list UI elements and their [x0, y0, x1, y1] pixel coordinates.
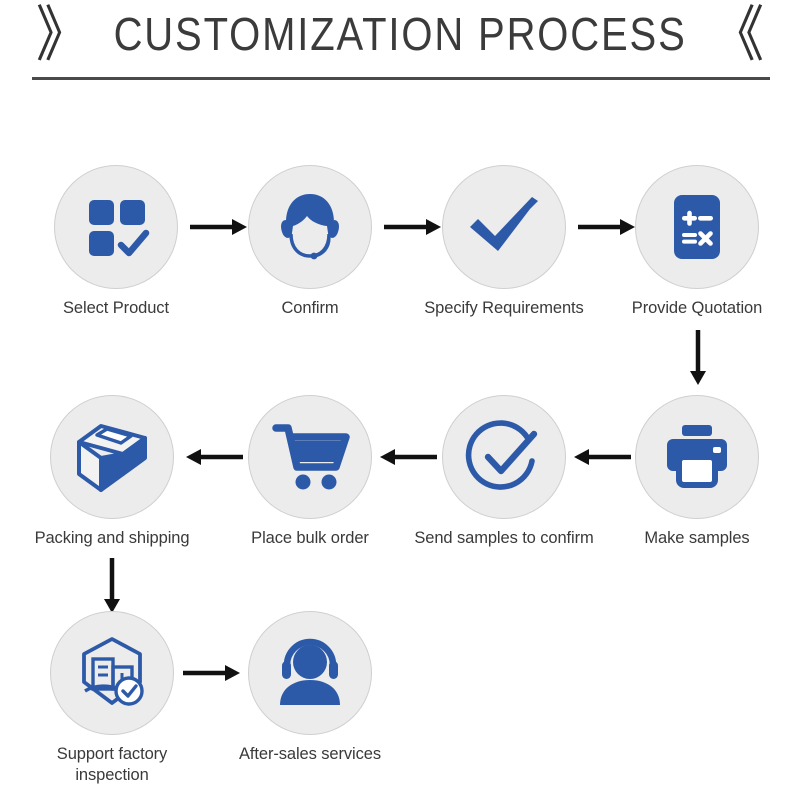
step-icon-circle [248, 611, 372, 735]
step-icon-circle [50, 395, 174, 519]
circle-check-icon [464, 417, 544, 497]
flow-step-after-sales-services[interactable]: After-sales services [235, 611, 385, 765]
flow-step-confirm[interactable]: Confirm [235, 165, 385, 319]
flow-step-label: Provide Quotation [582, 298, 800, 319]
connector-arrow-right [183, 663, 241, 683]
shopping-cart-icon [270, 417, 350, 497]
process-flow-diagram: Select Product Confirm [0, 0, 800, 800]
connector-arrow-down [102, 558, 122, 614]
step-icon-circle [248, 165, 372, 289]
checkmark-icon [464, 187, 544, 267]
step-icon-circle [635, 395, 759, 519]
printer-icon [659, 419, 735, 495]
flow-step-select-product[interactable]: Select Product [41, 165, 191, 319]
flow-step-label: Select Product [16, 298, 216, 319]
flow-step-label: Support factory inspection [0, 744, 227, 786]
flow-step-provide-quotation[interactable]: Provide Quotation [622, 165, 772, 319]
flow-step-support-factory-inspection[interactable]: Support factory inspection [37, 611, 187, 786]
step-icon-circle [442, 395, 566, 519]
step-icon-circle [442, 165, 566, 289]
flow-step-specify-requirements[interactable]: Specify Requirements [429, 165, 579, 319]
flow-step-label: Make samples [582, 528, 800, 549]
step-icon-circle [54, 165, 178, 289]
step-icon-circle [635, 165, 759, 289]
flow-step-place-bulk-order[interactable]: Place bulk order [235, 395, 385, 549]
flow-step-packing-and-shipping[interactable]: Packing and shipping [37, 395, 187, 549]
flow-step-label: Confirm [210, 298, 410, 319]
flow-step-send-samples-to-confirm[interactable]: Send samples to confirm [429, 395, 579, 549]
support-agent-icon [269, 186, 351, 268]
flow-step-label: Packing and shipping [0, 528, 227, 549]
step-icon-circle [248, 395, 372, 519]
grid-check-icon [79, 190, 153, 264]
connector-arrow-down [688, 330, 708, 386]
flow-step-make-samples[interactable]: Make samples [622, 395, 772, 549]
headset-person-icon [270, 633, 350, 713]
package-box-icon [71, 416, 153, 498]
calculator-icon [660, 190, 734, 264]
flow-step-label: After-sales services [195, 744, 425, 765]
factory-shield-check-icon [72, 633, 152, 713]
step-icon-circle [50, 611, 174, 735]
